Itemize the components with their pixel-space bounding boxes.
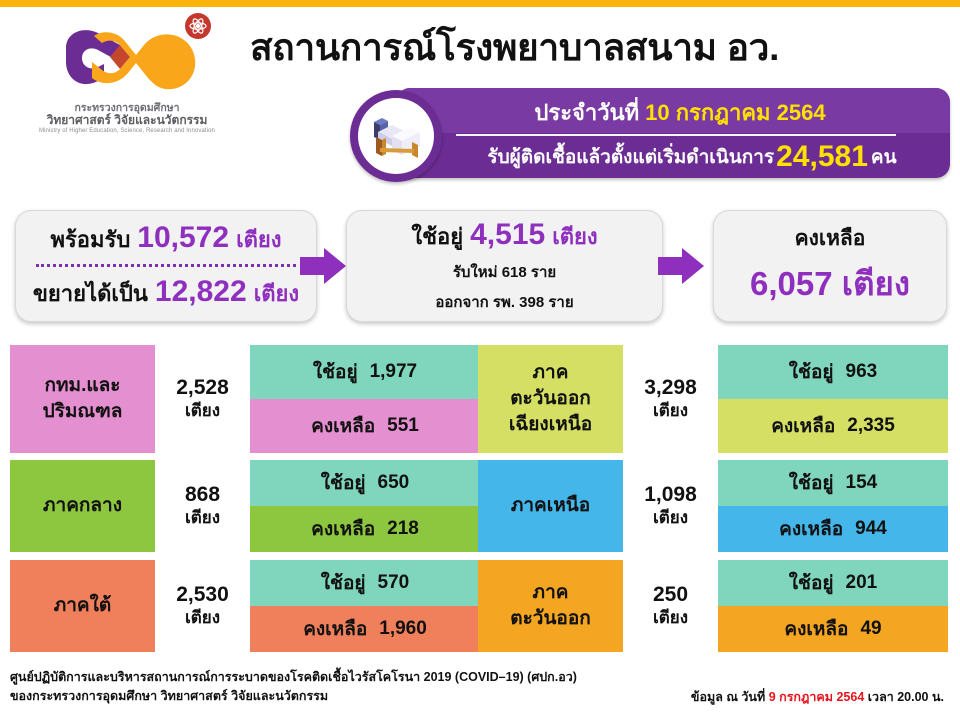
region-total-value: 1,098	[644, 483, 697, 506]
page-title: สถานการณ์โรงพยาบาลสนาม อว.	[250, 18, 950, 77]
in-use-beds-line: ใช้อยู่ 4,515 เตียง	[411, 218, 597, 254]
region-name-line: ภาคใต้	[54, 593, 112, 619]
region-in-use-label: ใช้อยู่	[321, 568, 366, 598]
footer-line1: ศูนย์ปฏิบัติการและบริหารสถานการณ์การระบา…	[10, 668, 950, 687]
region-name-line: กทม.และ	[43, 373, 123, 399]
region-remaining-label: คงเหลือ	[311, 411, 375, 441]
mhesi-logo-icon	[32, 12, 222, 100]
region-total-value: 868	[185, 483, 220, 506]
banner-date-row: ประจำวันที่ 10 กรกฎาคม 2564	[460, 92, 900, 132]
in-use-beds-unit: เตียง	[552, 219, 597, 254]
new-admissions-label: รับใหม่ 618 ราย	[453, 260, 556, 284]
region-total-cell: 1,098เตียง	[628, 460, 713, 552]
region-total-unit: เตียง	[644, 399, 697, 422]
banner-divider	[456, 134, 896, 136]
region-in-use-value: 154	[846, 472, 878, 494]
data-as-of-date: 9 กรกฎาคม 2564	[769, 690, 865, 704]
available-beds-line: พร้อมรับ 10,572 เตียง	[50, 221, 281, 257]
region-total-cell: 3,298เตียง	[628, 345, 713, 453]
region-remaining-label: คงเหลือ	[779, 514, 843, 544]
region-in-use-value: 201	[846, 572, 878, 594]
data-as-of-prefix: ข้อมูล ณ วันที่	[691, 690, 765, 704]
card-beds-in-use: ใช้อยู่ 4,515 เตียง รับใหม่ 618 ราย ออกจ…	[346, 210, 663, 322]
arrow-inuse-to-remaining-icon	[658, 246, 704, 286]
region-remaining-cell: คงเหลือ944	[718, 506, 948, 552]
region-in-use-label: ใช้อยู่	[789, 357, 834, 387]
banner-cumulative-label: รับผู้ติดเชื้อแล้วตั้งแต่เริ่มดำเนินการ	[487, 142, 774, 172]
remaining-beds-value: 6,057	[750, 265, 833, 302]
region-name-line: เฉียงเหนือ	[509, 412, 592, 438]
expandable-beds-line: ขยายได้เป็น 12,822 เตียง	[33, 275, 299, 311]
region-remaining-cell: คงเหลือ2,335	[718, 399, 948, 453]
region-remaining-value: 218	[387, 518, 419, 540]
expandable-beds-value: 12,822	[155, 275, 247, 309]
region-in-use-value: 650	[378, 472, 410, 494]
region-remaining-label: คงเหลือ	[784, 614, 848, 644]
bed-icon-badge	[350, 90, 442, 182]
in-use-beds-label: ใช้อยู่	[411, 219, 463, 254]
arrow-available-to-inuse-icon	[300, 246, 346, 286]
region-name-line: ภาค	[509, 360, 592, 386]
region-name-cell: ภาคกลาง	[10, 460, 155, 552]
summary-row: พร้อมรับ 10,572 เตียง ขยายได้เป็น 12,822…	[0, 208, 960, 323]
available-beds-unit: เตียง	[236, 222, 281, 257]
top-accent-bar	[0, 0, 960, 7]
region-total-cell: 2,528เตียง	[160, 345, 245, 453]
region-in-use-value: 963	[846, 361, 878, 383]
region-in-use-cell: ใช้อยู่201	[718, 560, 948, 606]
banner-cumulative-value: 24,581	[776, 140, 868, 174]
data-as-of-suffix: เวลา 20.00 น.	[868, 690, 944, 704]
region-in-use-label: ใช้อยู่	[789, 568, 834, 598]
region-name-line: ตะวันออก	[509, 386, 592, 412]
region-total-value: 2,528	[176, 376, 229, 399]
region-name-line: ปริมณฑล	[43, 399, 123, 425]
expandable-beds-label: ขยายได้เป็น	[33, 276, 148, 311]
expandable-beds-unit: เตียง	[254, 276, 299, 311]
region-in-use-value: 570	[378, 572, 410, 594]
region-total-unit: เตียง	[653, 606, 688, 629]
region-in-use-cell: ใช้อยู่1,977	[250, 345, 480, 399]
region-remaining-label: คงเหลือ	[303, 614, 367, 644]
banner-cumulative-row: รับผู้ติดเชื้อแล้วตั้งแต่เริ่มดำเนินการ …	[442, 138, 942, 176]
discharges-label: ออกจาก รพ. 398 ราย	[435, 290, 573, 314]
region-in-use-cell: ใช้อยู่650	[250, 460, 480, 506]
region-remaining-cell: คงเหลือ1,960	[250, 606, 480, 652]
date-banner: ประจำวันที่ 10 กรกฎาคม 2564 รับผู้ติดเชื…	[350, 88, 950, 178]
available-beds-value: 10,572	[137, 221, 229, 255]
region-remaining-cell: คงเหลือ49	[718, 606, 948, 652]
region-in-use-cell: ใช้อยู่963	[718, 345, 948, 399]
remaining-beds-label: คงเหลือ	[795, 222, 866, 255]
region-remaining-value: 2,335	[847, 415, 895, 437]
region-total-unit: เตียง	[644, 506, 697, 529]
region-remaining-label: คงเหลือ	[771, 411, 835, 441]
banner-date-label: ประจำวันที่	[534, 95, 639, 130]
region-remaining-value: 551	[387, 415, 419, 437]
hospital-bed-icon	[366, 108, 426, 164]
card-available-beds: พร้อมรับ 10,572 เตียง ขยายได้เป็น 12,822…	[15, 210, 317, 322]
banner-cumulative-unit: คน	[871, 142, 897, 172]
region-total-value: 2,530	[176, 583, 229, 606]
card-remaining-beds: คงเหลือ 6,057 เตียง	[713, 210, 947, 322]
footer-data-timestamp: ข้อมูล ณ วันที่ 9 กรกฎาคม 2564 เวลา 20.0…	[691, 687, 944, 707]
region-remaining-cell: คงเหลือ218	[250, 506, 480, 552]
available-beds-label: พร้อมรับ	[50, 222, 130, 257]
region-total-unit: เตียง	[185, 506, 220, 529]
region-name-cell: ภาคเหนือ	[478, 460, 623, 552]
region-name-cell: ภาคตะวันออก	[478, 560, 623, 652]
region-remaining-value: 944	[855, 518, 887, 540]
region-total-unit: เตียง	[176, 606, 229, 629]
ministry-logo-caption: กระทรวงการอุดมศึกษา วิทยาศาสตร์ วิจัยและ…	[22, 102, 232, 135]
region-name-line: ตะวันออก	[510, 606, 591, 632]
region-name-cell: ภาคตะวันออกเฉียงเหนือ	[478, 345, 623, 453]
footer: ศูนย์ปฏิบัติการและบริหารสถานการณ์การระบา…	[10, 668, 950, 706]
ministry-caption-line2: วิทยาศาสตร์ วิจัยและนวัตกรรม	[22, 114, 232, 127]
ministry-caption-line3: Ministry of Higher Education, Science, R…	[22, 127, 232, 135]
region-total-value: 3,298	[644, 376, 697, 399]
region-total-cell: 868เตียง	[160, 460, 245, 552]
region-total-cell: 250เตียง	[628, 560, 713, 652]
region-name-cell: กทม.และปริมณฑล	[10, 345, 155, 453]
region-in-use-label: ใช้อยู่	[321, 468, 366, 498]
region-total-value: 250	[653, 583, 688, 606]
region-total-unit: เตียง	[176, 399, 229, 422]
region-table: กทม.และปริมณฑล2,528เตียงใช้อยู่1,977คงเห…	[0, 340, 960, 658]
region-in-use-value: 1,977	[370, 361, 418, 383]
remaining-beds-unit: เตียง	[842, 265, 910, 302]
region-in-use-cell: ใช้อยู่154	[718, 460, 948, 506]
region-remaining-value: 49	[860, 618, 881, 640]
region-in-use-label: ใช้อยู่	[789, 468, 834, 498]
in-use-beds-value: 4,515	[470, 218, 545, 252]
region-name-line: ภาค	[510, 580, 591, 606]
region-in-use-cell: ใช้อยู่570	[250, 560, 480, 606]
remaining-beds-value-line: 6,057 เตียง	[750, 257, 910, 310]
ministry-logo: กระทรวงการอุดมศึกษา วิทยาศาสตร์ วิจัยและ…	[22, 12, 232, 152]
region-remaining-cell: คงเหลือ551	[250, 399, 480, 453]
region-remaining-label: คงเหลือ	[311, 514, 375, 544]
region-name-cell: ภาคใต้	[10, 560, 155, 652]
region-name-line: ภาคกลาง	[43, 493, 122, 519]
card-divider	[36, 264, 296, 267]
region-name-line: ภาคเหนือ	[511, 493, 590, 519]
region-total-cell: 2,530เตียง	[160, 560, 245, 652]
region-remaining-value: 1,960	[379, 618, 427, 640]
region-in-use-label: ใช้อยู่	[313, 357, 358, 387]
banner-date-value: 10 กรกฎาคม 2564	[645, 95, 825, 130]
infographic-page: กระทรวงการอุดมศึกษา วิทยาศาสตร์ วิจัยและ…	[0, 0, 960, 720]
